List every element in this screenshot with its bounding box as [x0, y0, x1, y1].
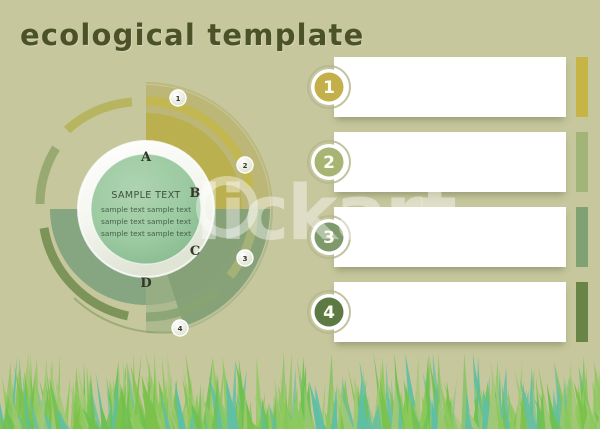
- row-badge-3[interactable]: 3: [306, 214, 352, 260]
- row-badge-1[interactable]: 1: [306, 64, 352, 110]
- svg-text:1: 1: [176, 95, 181, 103]
- center-heading: SAMPLE TEXT: [111, 190, 180, 201]
- svg-text:3: 3: [323, 228, 335, 248]
- svg-text:4: 4: [178, 325, 183, 333]
- row-badge-2[interactable]: 2: [306, 139, 352, 185]
- arc-marker-2[interactable]: 2: [237, 157, 253, 173]
- infographic-canvas: ecological template: [0, 0, 600, 429]
- page-title: ecological template: [20, 18, 365, 52]
- center-line-2: sample text sample text: [101, 217, 191, 226]
- circular-diagram: SAMPLE TEXT sample text sample text samp…: [34, 78, 284, 340]
- content-rows: 1 2: [306, 57, 588, 342]
- arc-marker-3[interactable]: 3: [237, 250, 253, 266]
- svg-text:4: 4: [323, 303, 335, 323]
- row-badge-4[interactable]: 4: [306, 289, 352, 335]
- center-line-1: sample text sample text: [101, 205, 191, 214]
- segment-label-d: D: [140, 276, 151, 291]
- svg-text:3: 3: [243, 255, 248, 263]
- content-row-2[interactable]: 2: [306, 132, 588, 192]
- arc-marker-4[interactable]: 4: [172, 320, 188, 336]
- row-panel-3[interactable]: [334, 207, 566, 267]
- row-tab-4: [576, 282, 588, 342]
- svg-text:2: 2: [323, 153, 335, 173]
- svg-text:1: 1: [323, 78, 335, 98]
- grass-decoration: [0, 337, 600, 429]
- row-tab-2: [576, 132, 588, 192]
- content-row-1[interactable]: 1: [306, 57, 588, 117]
- content-row-4[interactable]: 4: [306, 282, 588, 342]
- arc-marker-1[interactable]: 1: [170, 90, 186, 106]
- segment-label-c: C: [190, 244, 200, 259]
- row-panel-2[interactable]: [334, 132, 566, 192]
- segment-label-a: A: [140, 150, 152, 165]
- row-tab-3: [576, 207, 588, 267]
- segment-label-b: B: [190, 186, 201, 201]
- row-panel-4[interactable]: [334, 282, 566, 342]
- center-line-3: sample text sample text: [101, 229, 191, 238]
- row-panel-1[interactable]: [334, 57, 566, 117]
- svg-text:2: 2: [243, 162, 248, 170]
- content-row-3[interactable]: 3: [306, 207, 588, 267]
- row-tab-1: [576, 57, 588, 117]
